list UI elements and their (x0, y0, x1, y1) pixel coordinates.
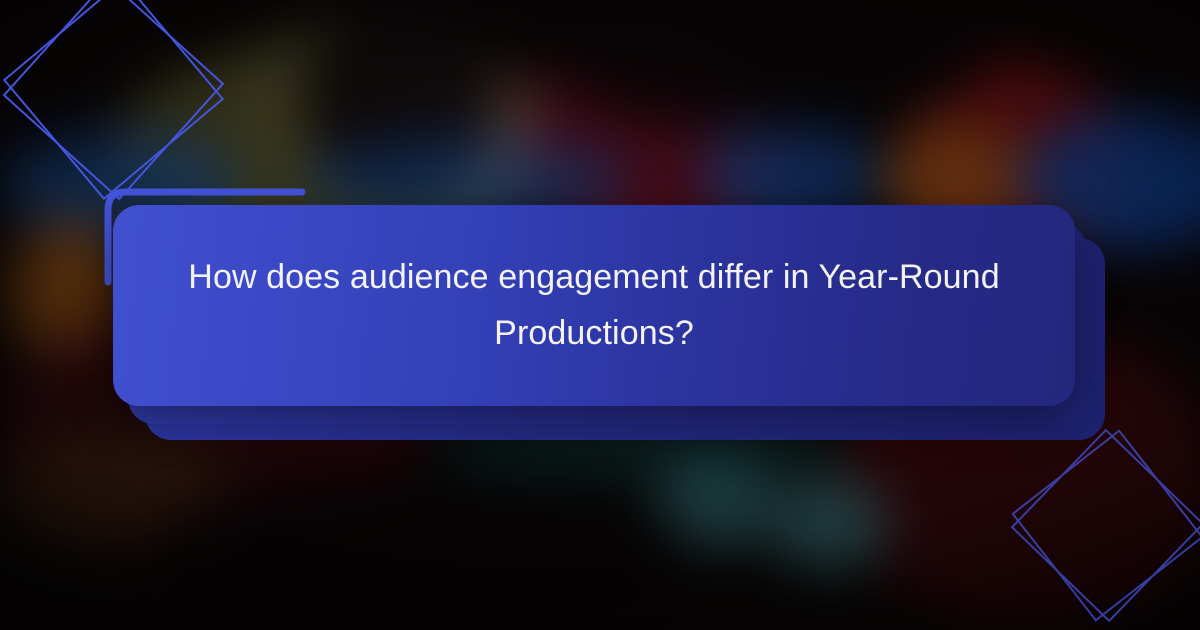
promo-card-canvas: How does audience engagement differ in Y… (0, 0, 1200, 630)
question-title: How does audience engagement differ in Y… (113, 250, 1075, 360)
question-card: How does audience engagement differ in Y… (113, 205, 1075, 406)
